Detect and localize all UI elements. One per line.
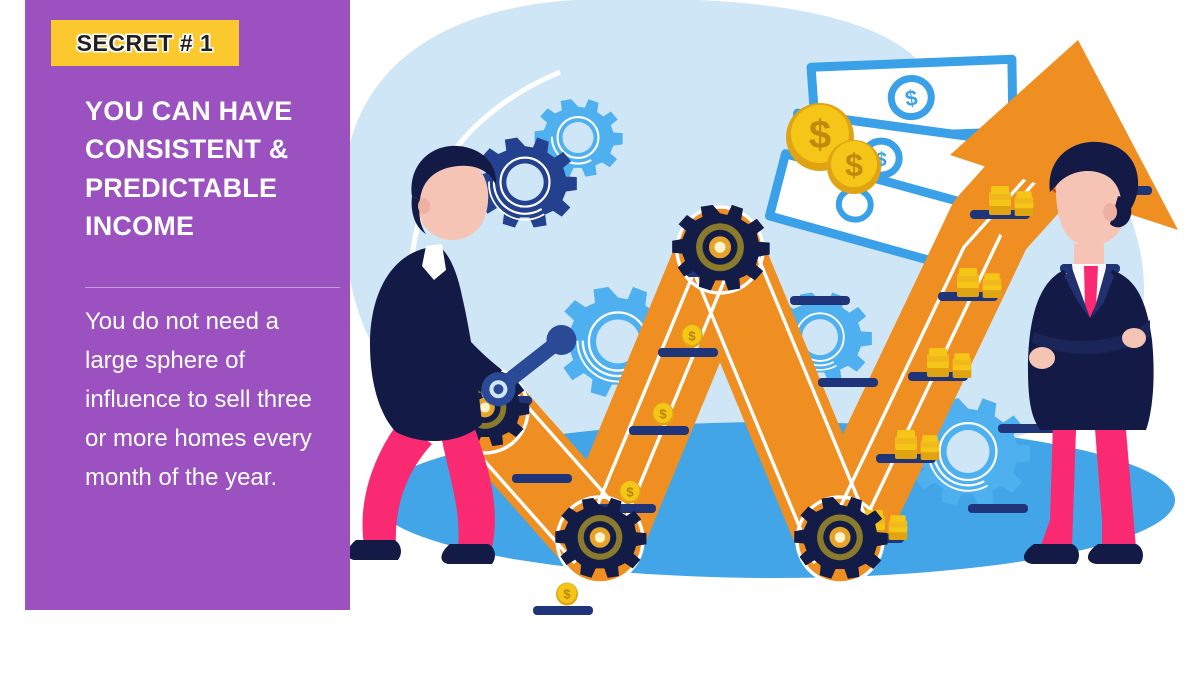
coin-small: $ bbox=[827, 140, 881, 194]
secret-number-badge: SECRET # 1 bbox=[51, 20, 239, 66]
business-growth-illustration: $ bbox=[350, 0, 1200, 682]
panel-divider bbox=[85, 287, 340, 288]
panel-headline: YOU CAN HAVE CONSISTENT & PREDICTABLE IN… bbox=[85, 92, 357, 245]
left-content-panel: SECRET # 1 YOU CAN HAVE CONSISTENT & PRE… bbox=[25, 0, 350, 610]
panel-body-text: You do not need a large sphere of influe… bbox=[85, 303, 335, 497]
svg-text:$: $ bbox=[809, 113, 831, 157]
slide-canvas: SECRET # 1 YOU CAN HAVE CONSISTENT & PRE… bbox=[0, 0, 1200, 682]
secret-number-badge-label: SECRET # 1 bbox=[77, 30, 214, 57]
svg-text:$: $ bbox=[845, 147, 863, 183]
